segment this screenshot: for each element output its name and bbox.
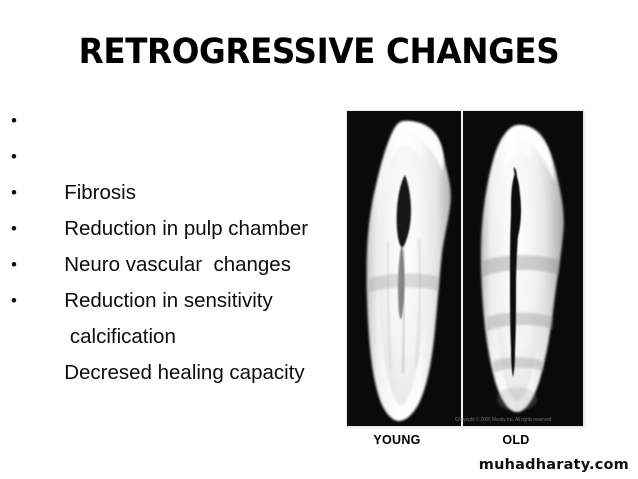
bullet-list: • Fibrosis • Reduction in pulp chamber •…: [6, 103, 336, 319]
bullet-marker-icon: •: [11, 103, 23, 139]
bullet-marker-icon: •: [11, 283, 23, 319]
list-item: • Reduction in pulp chamber: [6, 139, 336, 175]
list-item: • Fibrosis: [6, 103, 336, 139]
bullet-marker-icon: •: [11, 247, 23, 283]
list-item: • Reduction in sensitivity: [6, 211, 336, 247]
list-item: • Neuro vascular changes: [6, 175, 336, 211]
tooth-panel-old: [463, 111, 583, 426]
list-item: • calcification: [6, 247, 336, 283]
list-item-label: calcification: [64, 325, 176, 348]
caption-old: OLD: [470, 432, 562, 448]
tooth-panel-young: [347, 111, 461, 426]
caption-young: YOUNG: [347, 432, 447, 448]
copyright-watermark: Copyright © 2005 Mosby Inc. All rights r…: [425, 416, 581, 424]
photo-divider: [461, 111, 463, 426]
page-title: RETROGRESSIVE CHANGES: [22, 31, 615, 73]
footer-brand: muhadharaty.com: [479, 456, 629, 474]
tooth-comparison-figure: Copyright © 2005 Mosby Inc. All rights r…: [347, 111, 583, 426]
young-tooth-icon: [347, 111, 461, 426]
bullet-marker-icon: •: [11, 211, 23, 247]
old-tooth-icon: [463, 111, 583, 426]
slide-canvas: RETROGRESSIVE CHANGES • Fibrosis • Reduc…: [0, 0, 638, 479]
list-item-label: Decresed healing capacity: [64, 361, 304, 384]
bullet-marker-icon: •: [11, 139, 23, 175]
list-item: • Decresed healing capacity: [6, 283, 336, 319]
bullet-marker-icon: •: [11, 175, 23, 211]
tooth-photo: Copyright © 2005 Mosby Inc. All rights r…: [347, 111, 583, 426]
